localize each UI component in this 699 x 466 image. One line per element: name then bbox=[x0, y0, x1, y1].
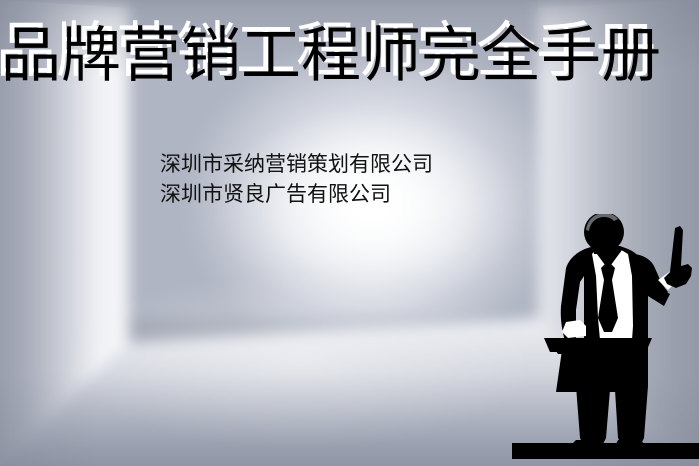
slide-title: 品牌营销工程师完全手册 bbox=[1, 16, 661, 96]
subtitle-line-1: 深圳市采纳营销策划有限公司 bbox=[160, 150, 433, 180]
podium-top-icon bbox=[544, 338, 652, 352]
slide-subtitle: 深圳市采纳营销策划有限公司 深圳市贤良广告有限公司 bbox=[160, 150, 433, 210]
speaker-at-podium-silhouette bbox=[536, 214, 699, 466]
title-block: 品牌营销工程师完全手册 品牌营销工程师完全手册 bbox=[0, 11, 695, 99]
subtitle-line-2: 深圳市贤良广告有限公司 bbox=[160, 180, 433, 210]
pointing-hand-icon bbox=[664, 226, 692, 288]
stage-base-icon bbox=[512, 443, 699, 459]
presentation-slide: 品牌营销工程师完全手册 品牌营销工程师完全手册 深圳市采纳营销策划有限公司 深圳… bbox=[0, 0, 699, 466]
neck-icon bbox=[594, 244, 616, 254]
podium-skirt-icon bbox=[556, 350, 640, 392]
